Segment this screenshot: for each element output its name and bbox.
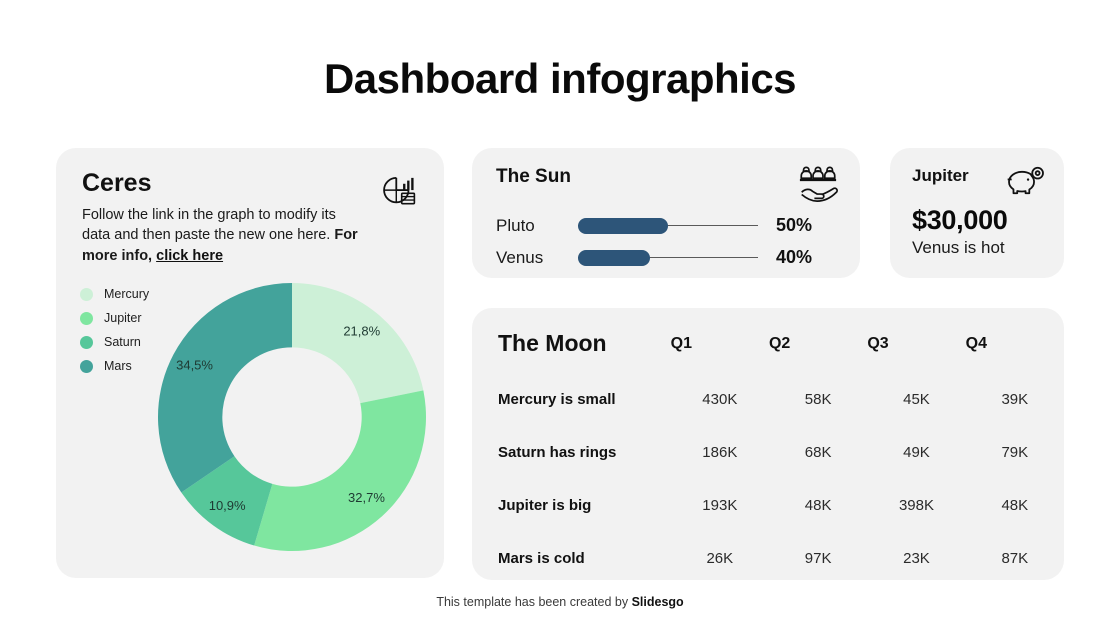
bar-track-pluto[interactable]: [578, 218, 758, 234]
row-label: Saturn has rings: [472, 426, 671, 479]
row-label: Mars is cold: [472, 532, 671, 580]
cell-q3: 398K: [867, 479, 965, 532]
jupiter-title: Jupiter: [912, 166, 969, 186]
table-row: Jupiter is big 193K 48K 398K 48K: [472, 479, 1064, 532]
moon-table: The Moon Q1 Q2 Q3 Q4 Mercury is small 43…: [472, 308, 1064, 580]
legend-item-mars: Mars: [80, 354, 149, 378]
column-header-q1: Q1: [671, 308, 769, 373]
donut-legend: Mercury Jupiter Saturn Mars: [80, 282, 149, 378]
cell-q1: 430K: [671, 373, 769, 426]
cell-q4: 87K: [966, 532, 1064, 580]
pie-chart-icon: [380, 172, 418, 210]
cell-q4: 39K: [966, 373, 1064, 426]
cell-q1: 26K: [671, 532, 769, 580]
jupiter-value: $30,000: [912, 205, 1046, 236]
legend-item-jupiter: Jupiter: [80, 306, 149, 330]
table-row: Mercury is small 430K 58K 45K 39K: [472, 373, 1064, 426]
bar-row-venus: Venus 40%: [496, 247, 838, 268]
legend-label-saturn: Saturn: [104, 335, 141, 349]
donut-label-jupiter: 32,7%: [348, 490, 385, 505]
footer-brand[interactable]: Slidesgo: [632, 595, 684, 609]
bar-fill-pluto: [578, 218, 668, 234]
donut-slice-jupiter[interactable]: [254, 390, 426, 551]
ceres-header: Ceres Follow the link in the graph to mo…: [82, 170, 418, 266]
footer-credit: This template has been created by Slides…: [0, 595, 1120, 609]
bar-percent-pluto: 50%: [776, 215, 812, 236]
legend-item-saturn: Saturn: [80, 330, 149, 354]
ceres-description-text: Follow the link in the graph to modify i…: [82, 207, 336, 244]
cell-q1: 186K: [671, 426, 769, 479]
column-header-q3: Q3: [867, 308, 965, 373]
table-row: Mars is cold 26K 97K 23K 87K: [472, 532, 1064, 580]
ceres-click-here-link[interactable]: click here: [156, 248, 223, 264]
row-label: Mercury is small: [472, 373, 671, 426]
legend-label-jupiter: Jupiter: [104, 311, 142, 325]
legend-dot-saturn: [80, 336, 93, 349]
table-row: Saturn has rings 186K 68K 49K 79K: [472, 426, 1064, 479]
cell-q4: 79K: [966, 426, 1064, 479]
cell-q2: 48K: [769, 479, 867, 532]
legend-dot-mars: [80, 360, 93, 373]
sun-title: The Sun: [496, 166, 571, 188]
cell-q4: 48K: [966, 479, 1064, 532]
cell-q2: 68K: [769, 426, 867, 479]
bar-row-pluto: Pluto 50%: [496, 215, 838, 236]
ceres-description: Follow the link in the graph to modify i…: [82, 205, 367, 267]
cell-q3: 45K: [867, 373, 965, 426]
ceres-title: Ceres: [82, 170, 367, 198]
donut-label-saturn: 10,9%: [209, 498, 246, 513]
footer-text: This template has been created by: [436, 595, 631, 609]
cell-q2: 58K: [769, 373, 867, 426]
piggy-bank-icon: [1006, 166, 1046, 200]
bar-label-pluto: Pluto: [496, 216, 578, 236]
cell-q2: 97K: [769, 532, 867, 580]
donut-label-mars: 34,5%: [176, 358, 213, 373]
moon-table-body: Mercury is small 430K 58K 45K 39K Saturn…: [472, 373, 1064, 580]
donut-chart[interactable]: 21,8%32,7%10,9%34,5%: [156, 281, 428, 553]
donut-slice-mars[interactable]: [158, 283, 292, 493]
moon-header-row: The Moon Q1 Q2 Q3 Q4: [472, 308, 1064, 373]
the-moon-table-card: The Moon Q1 Q2 Q3 Q4 Mercury is small 43…: [472, 308, 1064, 580]
jupiter-header: Jupiter: [912, 166, 1046, 200]
legend-label-mercury: Mercury: [104, 287, 149, 301]
donut-slice-mercury[interactable]: [292, 283, 423, 403]
legend-dot-jupiter: [80, 312, 93, 325]
jupiter-subtitle: Venus is hot: [912, 238, 1046, 258]
the-sun-card: The Sun Pluto 50% Venus: [472, 148, 860, 278]
column-header-q2: Q2: [769, 308, 867, 373]
cell-q3: 23K: [867, 532, 965, 580]
ceres-text-block: Ceres Follow the link in the graph to mo…: [82, 170, 367, 266]
legend-item-mercury: Mercury: [80, 282, 149, 306]
column-header-q4: Q4: [966, 308, 1064, 373]
bar-percent-venus: 40%: [776, 247, 812, 268]
jupiter-card: Jupiter $30,000 Venus is hot: [890, 148, 1064, 278]
moon-title: The Moon: [472, 308, 671, 373]
cell-q3: 49K: [867, 426, 965, 479]
sun-header: The Sun: [496, 166, 838, 204]
donut-label-mercury: 21,8%: [343, 324, 380, 339]
row-label: Jupiter is big: [472, 479, 671, 532]
moon-table-head: The Moon Q1 Q2 Q3 Q4: [472, 308, 1064, 373]
page-title: Dashboard infographics: [0, 55, 1120, 103]
legend-label-mars: Mars: [104, 359, 132, 373]
cell-q1: 193K: [671, 479, 769, 532]
legend-dot-mercury: [80, 288, 93, 301]
bar-label-venus: Venus: [496, 248, 578, 268]
hand-people-icon: [798, 166, 838, 204]
bar-fill-venus: [578, 250, 650, 266]
bar-track-venus[interactable]: [578, 250, 758, 266]
